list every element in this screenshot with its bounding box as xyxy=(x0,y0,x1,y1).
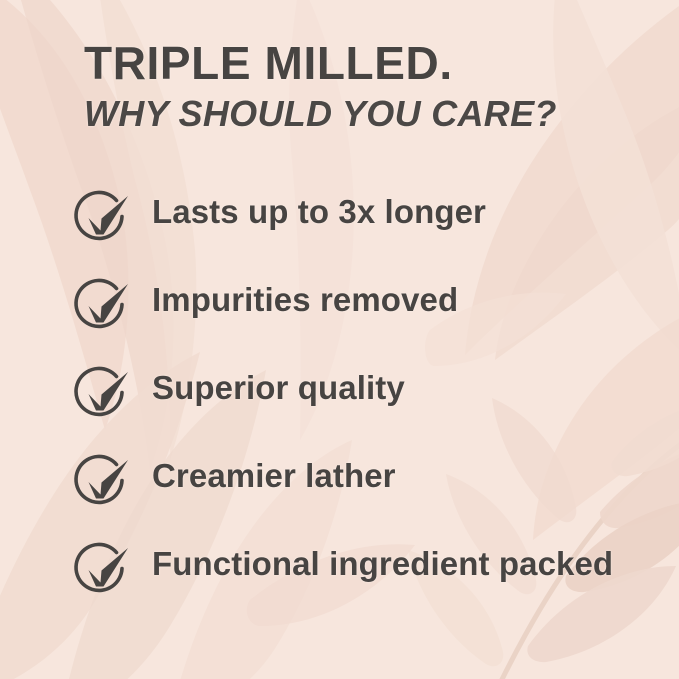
list-item: Impurities removed xyxy=(70,274,670,362)
poster-content: TRIPLE MILLED. WHY SHOULD YOU CARE? Last… xyxy=(0,0,679,679)
benefit-label: Functional ingredient packed xyxy=(152,538,670,584)
list-item: Functional ingredient packed xyxy=(70,538,670,626)
benefit-label: Superior quality xyxy=(152,362,670,408)
check-circle-icon xyxy=(70,540,138,604)
product-benefits-poster: TRIPLE MILLED. WHY SHOULD YOU CARE? Last… xyxy=(0,0,679,679)
headline-block: TRIPLE MILLED. WHY SHOULD YOU CARE? xyxy=(84,40,644,133)
benefit-label: Lasts up to 3x longer xyxy=(152,186,670,232)
list-item: Lasts up to 3x longer xyxy=(70,186,670,274)
check-circle-icon xyxy=(70,452,138,516)
benefit-list: Lasts up to 3x longer Impurities removed… xyxy=(70,186,670,626)
page-subtitle: WHY SHOULD YOU CARE? xyxy=(84,95,644,133)
check-circle-icon xyxy=(70,188,138,252)
check-circle-icon xyxy=(70,364,138,428)
benefit-label: Creamier lather xyxy=(152,450,670,496)
list-item: Creamier lather xyxy=(70,450,670,538)
check-circle-icon xyxy=(70,276,138,340)
page-title: TRIPLE MILLED. xyxy=(84,40,644,87)
benefit-label: Impurities removed xyxy=(152,274,670,320)
list-item: Superior quality xyxy=(70,362,670,450)
